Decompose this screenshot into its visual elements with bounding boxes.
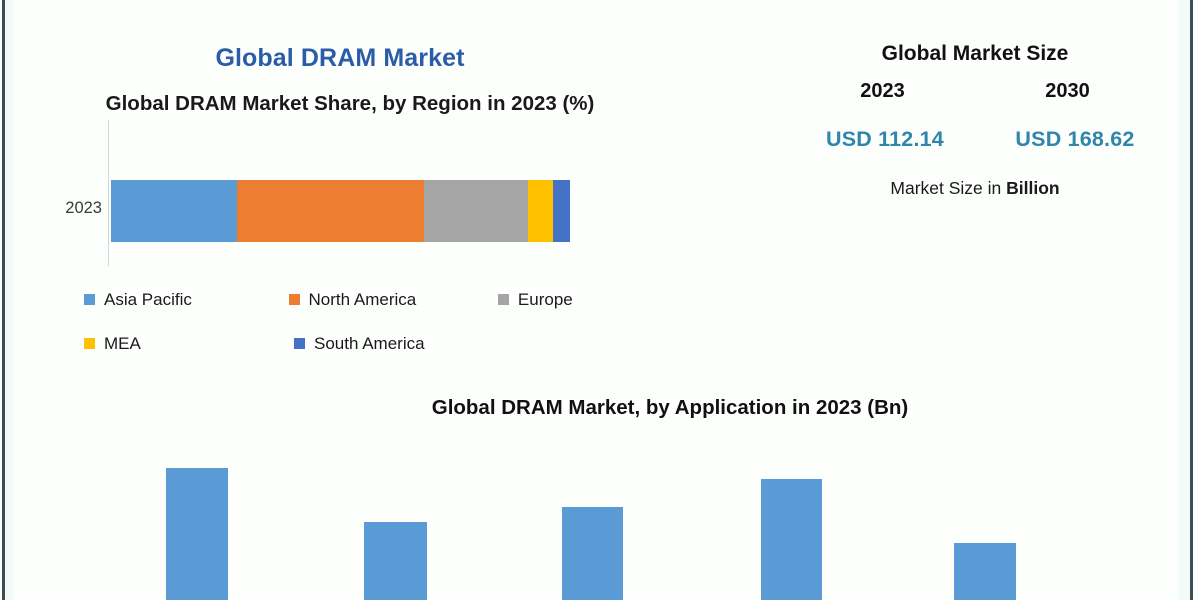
share-segment-europe xyxy=(424,180,528,242)
application-chart-plot xyxy=(0,440,1180,600)
share-segment-south-america xyxy=(553,180,570,242)
application-bar xyxy=(364,522,427,600)
application-chart-title: Global DRAM Market, by Application in 20… xyxy=(200,396,1140,420)
application-bar xyxy=(562,507,623,600)
legend-swatch-icon xyxy=(84,294,95,305)
legend-item-label: South America xyxy=(314,334,425,354)
legend-swatch-icon xyxy=(84,338,95,349)
share-chart-title: Global DRAM Market Share, by Region in 2… xyxy=(80,90,620,118)
legend-item-europe[interactable]: Europe xyxy=(498,290,644,310)
market-size-start-value: USD 112.14 xyxy=(790,127,980,152)
market-size-unit-emphasis: Billion xyxy=(1006,178,1059,198)
legend-swatch-icon xyxy=(289,294,300,305)
legend-item-label: MEA xyxy=(104,334,141,354)
application-bar xyxy=(761,479,822,600)
legend-item-label: Europe xyxy=(518,290,573,310)
share-segment-mea xyxy=(528,180,553,242)
application-bar xyxy=(954,543,1016,600)
market-size-end-year: 2030 xyxy=(975,80,1160,103)
market-size-unit-note: Market Size in Billion xyxy=(790,178,1160,199)
market-size-heading: Global Market Size xyxy=(790,42,1160,66)
legend-swatch-icon xyxy=(294,338,305,349)
legend-row: Asia PacificNorth AmericaEurope xyxy=(84,286,644,313)
page-title: Global DRAM Market xyxy=(110,44,570,73)
market-size-year-row: 2023 2030 xyxy=(790,80,1160,103)
share-stacked-bar xyxy=(111,180,570,242)
infographic-canvas: Global DRAM Market Global DRAM Market Sh… xyxy=(0,0,1200,600)
market-size-panel: Global Market Size 2023 2030 USD 112.14 … xyxy=(790,42,1190,199)
legend-item-mea[interactable]: MEA xyxy=(84,334,294,354)
share-chart-axis-line xyxy=(108,120,109,266)
share-segment-asia-pacific xyxy=(111,180,237,242)
legend-item-label: Asia Pacific xyxy=(104,290,192,310)
legend-item-north-america[interactable]: North America xyxy=(289,290,498,310)
share-segment-north-america xyxy=(237,180,424,242)
share-chart-legend: Asia PacificNorth AmericaEuropeMEASouth … xyxy=(84,286,644,374)
market-size-value-row: USD 112.14 USD 168.62 xyxy=(790,127,1170,152)
legend-item-label: North America xyxy=(309,290,417,310)
share-chart-category-label: 2023 xyxy=(40,199,102,218)
legend-row: MEASouth America xyxy=(84,330,644,357)
legend-item-south-america[interactable]: South America xyxy=(294,334,509,354)
market-size-start-year: 2023 xyxy=(790,80,975,103)
market-size-end-value: USD 168.62 xyxy=(980,127,1170,152)
market-size-unit-prefix: Market Size in xyxy=(890,178,1006,198)
page-frame-rule-right xyxy=(1190,0,1193,600)
application-bar xyxy=(166,468,228,600)
legend-item-asia-pacific[interactable]: Asia Pacific xyxy=(84,290,289,310)
legend-swatch-icon xyxy=(498,294,509,305)
